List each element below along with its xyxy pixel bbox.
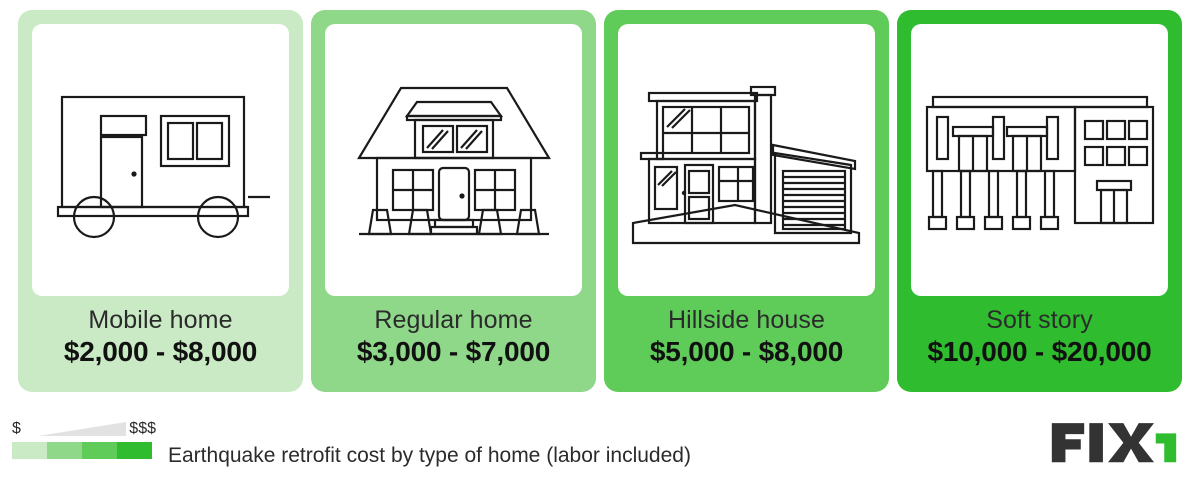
card-price: $10,000 - $20,000 <box>911 337 1168 366</box>
fixr-logo[interactable] <box>1050 418 1178 464</box>
card-label: Mobile home <box>32 307 289 333</box>
regular-home-icon <box>339 70 569 250</box>
footer: $ $$$ Earthquake retrofit cost by type o… <box>0 400 1200 480</box>
legend-segment <box>47 442 82 459</box>
soft-story-building-icon <box>915 85 1165 235</box>
cost-card-regular-home[interactable]: Regular home $3,000 - $7,000 <box>311 10 596 392</box>
legend-segment <box>82 442 117 459</box>
card-price: $3,000 - $7,000 <box>325 337 582 366</box>
cost-wedge-icon <box>38 420 126 438</box>
card-price: $5,000 - $8,000 <box>618 337 875 366</box>
legend-segment <box>117 442 152 459</box>
logo-text-fix <box>1052 423 1154 462</box>
chart-caption: Earthquake retrofit cost by type of home… <box>168 444 691 467</box>
card-artwork-panel <box>911 24 1168 296</box>
cost-card-mobile-home[interactable]: Mobile home $2,000 - $8,000 <box>18 10 303 392</box>
mobile-home-icon <box>46 75 276 245</box>
legend-min-label: $ <box>12 418 21 440</box>
card-label: Soft story <box>911 307 1168 333</box>
card-price: $2,000 - $8,000 <box>32 337 289 366</box>
card-label: Regular home <box>325 307 582 333</box>
legend-segment <box>12 442 47 459</box>
card-artwork-panel <box>325 24 582 296</box>
cost-card-hillside-house[interactable]: Hillside house $5,000 - $8,000 <box>604 10 889 392</box>
card-artwork-panel <box>32 24 289 296</box>
card-artwork-panel <box>618 24 875 296</box>
hillside-house-icon <box>627 65 867 255</box>
legend-color-bar <box>12 442 152 459</box>
legend-max-label: $$$ <box>129 418 156 440</box>
logo-r-mark <box>1156 433 1176 462</box>
legend-scale-row: $ $$$ <box>12 418 152 440</box>
cost-card-soft-story[interactable]: Soft story $10,000 - $20,000 <box>897 10 1182 392</box>
cost-cards-row: Mobile home $2,000 - $8,000 <box>0 0 1200 400</box>
card-label: Hillside house <box>618 307 875 333</box>
cost-scale-legend: $ $$$ <box>12 418 152 459</box>
